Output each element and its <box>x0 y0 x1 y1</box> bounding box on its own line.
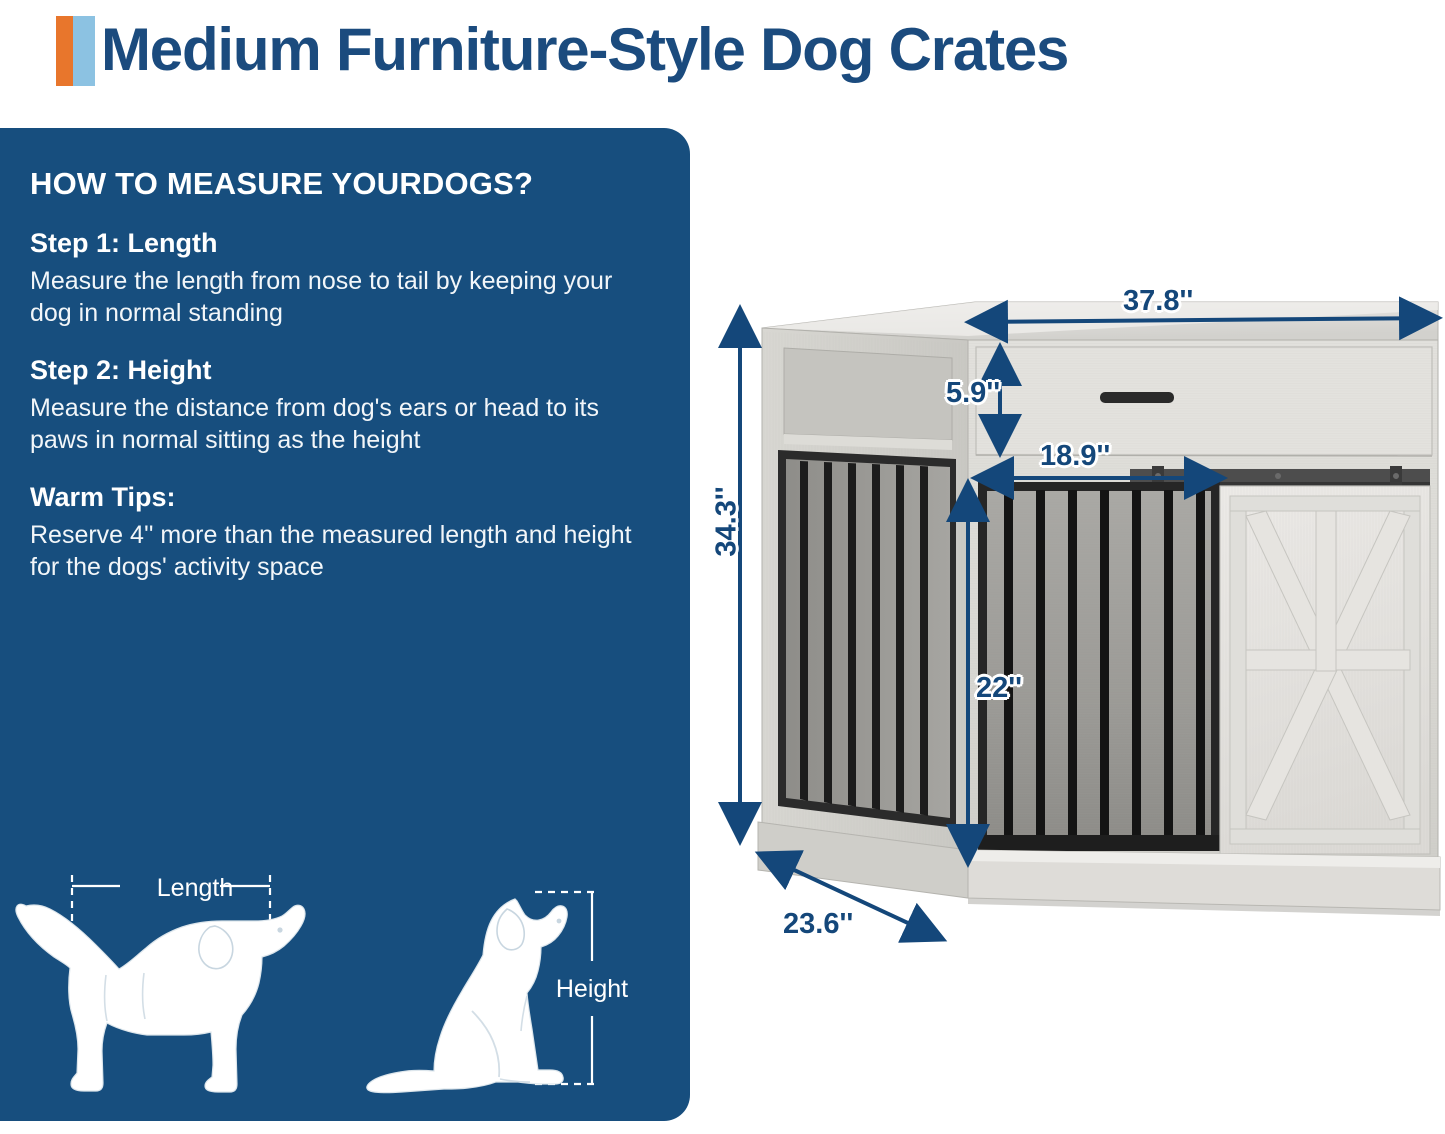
step-1-title: Step 1: Length <box>30 228 690 259</box>
sitting-dog-figure: Height <box>352 851 682 1113</box>
title-accent-lightblue-bar <box>73 16 95 86</box>
panel-heading: HOW TO MEASURE YOURDOGS? <box>30 166 690 202</box>
dog-measurement-figures: Length Height <box>0 851 690 1113</box>
step-1-body: Measure the length from nose to tail by … <box>30 266 660 329</box>
dimension-label-width: 37.8'' <box>1123 285 1193 318</box>
dimension-label-door-width: 18.9'' <box>1040 440 1110 473</box>
sliding-barn-door <box>1220 486 1430 854</box>
standing-dog-silhouette <box>16 904 305 1092</box>
height-label: Height <box>556 975 628 1003</box>
sitting-dog-silhouette <box>367 899 567 1093</box>
page-title: Medium Furniture-Style Dog Crates <box>101 20 1068 80</box>
warm-tips-body: Reserve 4'' more than the measured lengt… <box>30 520 660 583</box>
dog-crate-illustration <box>700 250 1445 1010</box>
step-2-title: Step 2: Height <box>30 355 690 386</box>
page-title-bar: Medium Furniture-Style Dog Crates <box>0 0 1445 100</box>
dimension-label-inner-height: 22'' <box>976 672 1022 705</box>
product-dimension-diagram: 37.8'' 5.9'' 18.9'' 22'' 23.6'' 34.3'' <box>700 250 1445 1010</box>
title-accent-orange-bar <box>56 16 73 86</box>
dimension-label-drawer-height: 5.9'' <box>946 377 1000 410</box>
dimension-label-depth: 23.6'' <box>783 908 853 941</box>
step-2-body: Measure the distance from dog's ears or … <box>30 393 660 456</box>
drawer-handle <box>1100 392 1174 403</box>
length-label: Length <box>157 874 233 902</box>
crate-side-upper-panel <box>784 348 952 440</box>
how-to-measure-panel: HOW TO MEASURE YOURDOGS? Step 1: Length … <box>0 128 690 1121</box>
warm-tips-title: Warm Tips: <box>30 482 690 513</box>
standing-dog-figure: Length <box>8 851 338 1113</box>
dimension-label-total-height: 34.3'' <box>711 486 744 556</box>
